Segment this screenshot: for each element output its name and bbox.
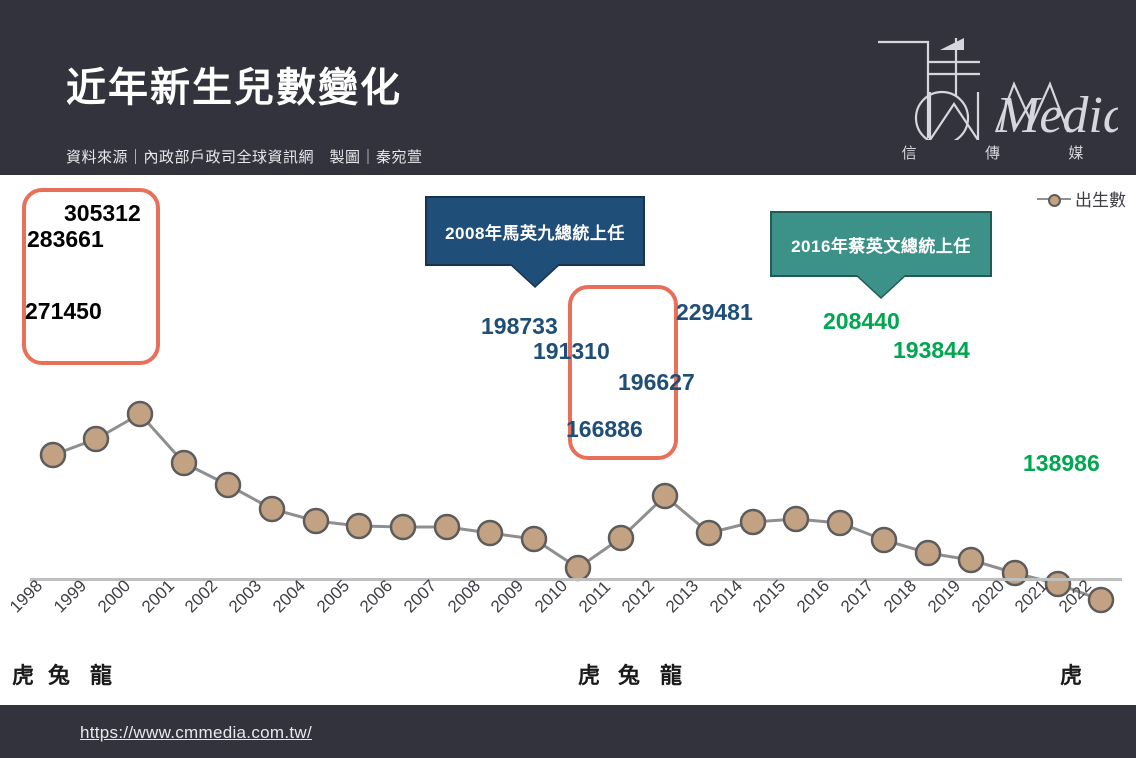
x-tick-2022: 2022 [1055,576,1096,617]
x-tick-2013: 2013 [662,576,703,617]
x-tick-2003: 2003 [225,576,266,617]
logo-mark-icon: Media [868,20,1118,140]
cmmedia-logo: Media 信 傳 媒 [868,20,1118,155]
x-tick-2004: 2004 [269,576,310,617]
x-tick-2007: 2007 [400,576,441,617]
x-tick-2020: 2020 [968,576,1009,617]
x-tick-2001: 2001 [138,576,179,617]
x-tick-2009: 2009 [487,576,528,617]
x-tick-2005: 2005 [313,576,354,617]
zodiac-1999: 兔 [48,658,70,690]
zodiac-2010: 虎 [578,658,600,690]
x-tick-2017: 2017 [837,576,878,617]
source-credit: 資料來源｜內政部戶政司全球資訊網 製圖｜秦宛萱 [66,146,423,167]
zodiac-2011: 兔 [618,658,640,690]
zodiac-1998: 虎 [12,658,34,690]
x-tick-2021: 2021 [1011,576,1052,617]
x-tick-2015: 2015 [749,576,790,617]
x-tick-2012: 2012 [618,576,659,617]
x-tick-2014: 2014 [706,576,747,617]
x-tick-2016: 2016 [793,576,834,617]
footer-band: https://www.cmmedia.com.tw/ [0,705,1136,758]
zodiac-2000: 龍 [90,658,112,690]
x-tick-1998: 1998 [6,576,47,617]
zodiac-2022: 虎 [1060,658,1082,690]
x-tick-2019: 2019 [924,576,965,617]
logo-cn-1: 信 [902,142,918,163]
x-tick-2011: 2011 [575,577,615,617]
chart-area: 出生數 [0,175,1136,705]
zodiac-2012: 龍 [660,658,682,690]
x-tick-2006: 2006 [356,576,397,617]
infographic-root: 近年新生兒數變化 資料來源｜內政部戶政司全球資訊網 製圖｜秦宛萱 Media [0,0,1136,758]
logo-cn-2: 傳 [985,142,1001,163]
logo-chinese-name: 信 傳 媒 [868,142,1118,163]
page-title: 近年新生兒數變化 [66,55,402,113]
x-tick-2000: 2000 [94,576,135,617]
x-tick-2002: 2002 [181,576,222,617]
logo-wordmark: Media [995,87,1118,140]
x-tick-2010: 2010 [531,576,572,617]
x-tick-1999: 1999 [50,576,91,617]
footer-url-link[interactable]: https://www.cmmedia.com.tw/ [80,723,312,743]
header-band: 近年新生兒數變化 資料來源｜內政部戶政司全球資訊網 製圖｜秦宛萱 Media [0,0,1136,175]
x-tick-2008: 2008 [444,576,485,617]
logo-cn-3: 媒 [1068,142,1084,163]
x-tick-2018: 2018 [880,576,921,617]
x-axis-tick-labels: 1998 1999 2000 2001 2002 2003 2004 2005 … [0,175,1136,705]
